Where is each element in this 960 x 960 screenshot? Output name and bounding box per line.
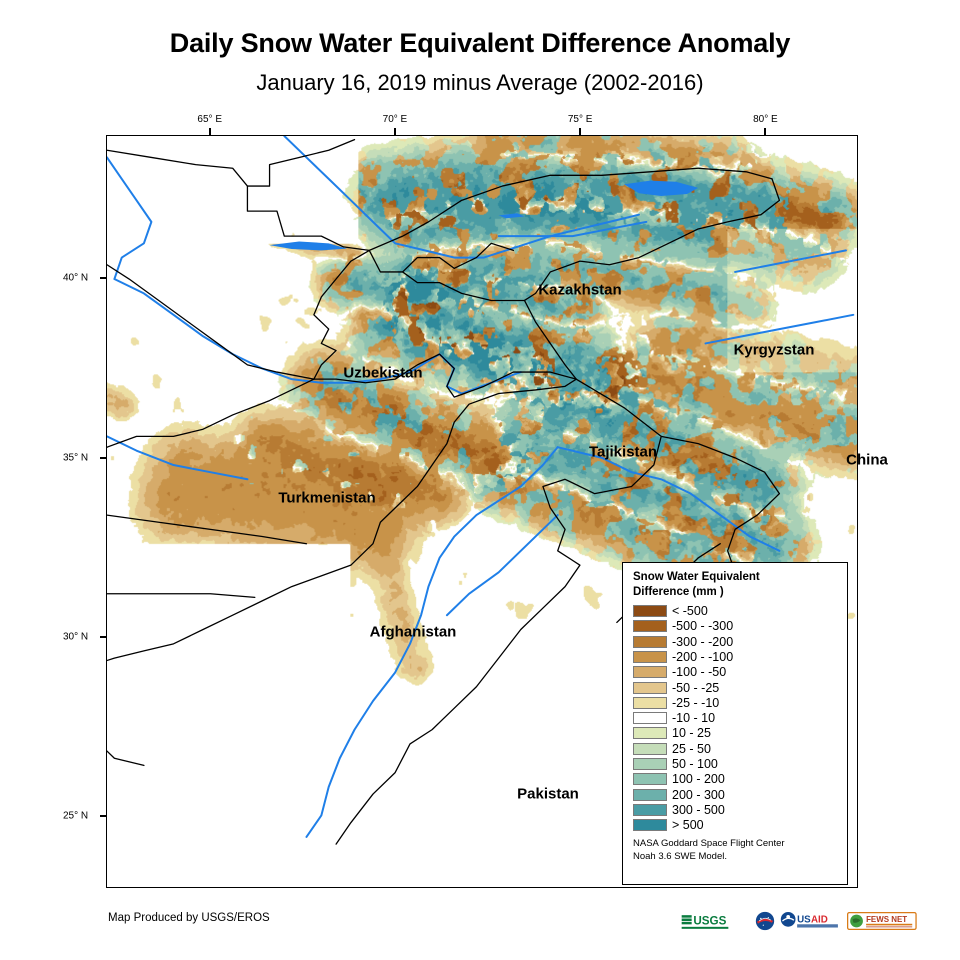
legend-swatch [633, 804, 667, 816]
svg-text:AID: AID [811, 915, 828, 926]
legend-swatch [633, 682, 667, 694]
lon-label-80: 80° E [753, 114, 778, 125]
legend-label: -25 - -10 [672, 696, 719, 710]
legend-row: -25 - -10 [633, 695, 839, 710]
legend-row: > 500 [633, 818, 839, 833]
legend-class-list: < -500-500 - -300-300 - -200-200 - -100-… [633, 603, 839, 832]
lat-tick-35 [100, 457, 107, 459]
country-label-kazakhstan: Kazakhstan [538, 282, 621, 299]
nasa-logo [755, 911, 775, 931]
legend-label: 100 - 200 [672, 772, 725, 786]
legend-label: -500 - -300 [672, 619, 733, 633]
lat-tick-25 [100, 815, 107, 817]
legend-row: -500 - -300 [633, 619, 839, 634]
legend-label: 300 - 500 [672, 803, 725, 817]
legend-label: 25 - 50 [672, 742, 711, 756]
legend-swatch [633, 789, 667, 801]
legend-row: -300 - -200 [633, 634, 839, 649]
lon-tick-75 [579, 128, 581, 135]
legend-row: -10 - 10 [633, 711, 839, 726]
svg-text:US: US [797, 915, 811, 926]
legend-label: -300 - -200 [672, 635, 733, 649]
logo-strip: USGS US AID FEWS NET [680, 910, 917, 932]
legend-row: -100 - -50 [633, 665, 839, 680]
legend-label: -200 - -100 [672, 650, 733, 664]
country-label-uzbekistan: Uzbekistan [343, 365, 422, 382]
lon-tick-80 [764, 128, 766, 135]
legend-swatch [633, 666, 667, 678]
lat-label-25: 25° N [63, 811, 88, 822]
legend-swatch [633, 758, 667, 770]
legend-swatch [633, 651, 667, 663]
legend-swatch [633, 712, 667, 724]
lon-tick-65 [209, 128, 211, 135]
legend-swatch [633, 727, 667, 739]
page-subtitle: January 16, 2019 minus Average (2002-201… [0, 70, 960, 96]
lon-label-65: 65° E [197, 114, 222, 125]
lat-label-40: 40° N [63, 273, 88, 284]
legend-row: 300 - 500 [633, 802, 839, 817]
legend-row: 200 - 300 [633, 787, 839, 802]
page-title: Daily Snow Water Equivalent Difference A… [0, 28, 960, 59]
lat-tick-30 [100, 636, 107, 638]
legend-label: < -500 [672, 604, 708, 618]
country-label-kyrgyzstan: Kyrgyzstan [734, 342, 815, 359]
svg-text:USGS: USGS [693, 914, 726, 927]
lat-label-35: 35° N [63, 452, 88, 463]
legend-label: -10 - 10 [672, 711, 715, 725]
legend-label: > 500 [672, 818, 704, 832]
lon-tick-70 [394, 128, 396, 135]
legend-swatch [633, 697, 667, 709]
legend-row: 25 - 50 [633, 741, 839, 756]
country-label-china: China [846, 452, 888, 469]
usgs-logo: USGS [680, 911, 750, 931]
legend-label: 10 - 25 [672, 726, 711, 740]
lon-label-75: 75° E [568, 114, 593, 125]
lat-label-30: 30° N [63, 632, 88, 643]
legend-row: 10 - 25 [633, 726, 839, 741]
legend-label: -100 - -50 [672, 665, 726, 679]
map-legend: Snow Water Equivalent Difference (mm ) <… [622, 562, 848, 885]
legend-row: -200 - -100 [633, 649, 839, 664]
country-label-pakistan: Pakistan [517, 786, 579, 803]
lat-tick-40 [100, 277, 107, 279]
legend-swatch [633, 620, 667, 632]
legend-label: 50 - 100 [672, 757, 718, 771]
usaid-logo: US AID [780, 911, 842, 931]
legend-row: -50 - -25 [633, 680, 839, 695]
legend-label: 200 - 300 [672, 788, 725, 802]
fewsnet-logo: FEWS NET [847, 911, 917, 931]
country-label-afghanistan: Afghanistan [370, 624, 457, 641]
svg-text:FEWS NET: FEWS NET [866, 915, 907, 924]
legend-row: 100 - 200 [633, 772, 839, 787]
legend-swatch [633, 743, 667, 755]
map-credit: Map Produced by USGS/EROS [108, 912, 270, 924]
legend-row: 50 - 100 [633, 756, 839, 771]
legend-swatch [633, 636, 667, 648]
legend-title: Snow Water Equivalent Difference (mm ) [633, 570, 839, 599]
legend-source-note: NASA Goddard Space Flight Center Noah 3.… [633, 838, 839, 864]
legend-swatch [633, 819, 667, 831]
lon-label-70: 70° E [383, 114, 408, 125]
legend-row: < -500 [633, 603, 839, 618]
legend-swatch [633, 605, 667, 617]
country-label-turkmenistan: Turkmenistan [278, 490, 375, 507]
country-label-tajikistan: Tajikistan [589, 444, 657, 461]
legend-label: -50 - -25 [672, 681, 719, 695]
legend-swatch [633, 773, 667, 785]
